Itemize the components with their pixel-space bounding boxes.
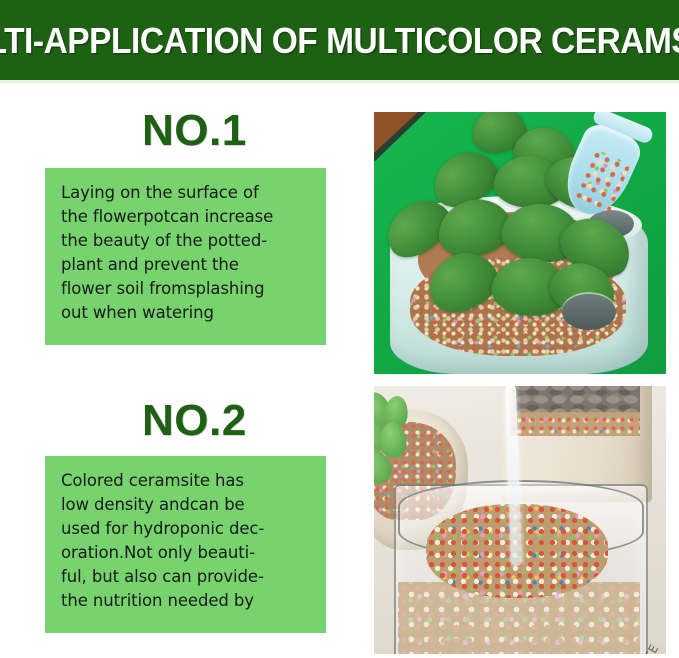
infographic-page: MULTI-APPLICATION OF MULTICOLOR CERAMSIT…	[0, 0, 679, 658]
section-2-text-card: Colored ceramsite has low density andcan…	[45, 456, 326, 633]
decorative-grey-stones	[514, 386, 640, 412]
section-1-text-card: Laying on the surface of the flowerpotca…	[45, 168, 326, 345]
succulent-plant	[374, 392, 432, 492]
section-1-body-text: Laying on the surface of the flowerpotca…	[61, 181, 314, 325]
pot-drain-opening	[562, 294, 616, 330]
section-2-number-label: NO.2	[142, 399, 247, 443]
hydroponic-vase-photo: GALETTE	[374, 386, 666, 654]
section-2-photo: GALETTE	[374, 386, 666, 654]
header-divider	[0, 80, 679, 83]
header-banner: MULTI-APPLICATION OF MULTICOLOR CERAMSIT…	[0, 0, 679, 80]
wood-corner	[374, 112, 418, 153]
page-title: MULTI-APPLICATION OF MULTICOLOR CERAMSIT…	[0, 23, 679, 59]
section-2-body-text: Colored ceramsite has low density andcan…	[61, 469, 314, 613]
potted-plant-photo	[374, 112, 666, 374]
section-1-photo	[374, 112, 666, 374]
text-column: NO.1 Laying on the surface of the flower…	[0, 84, 360, 658]
section-1-number-label: NO.1	[142, 109, 247, 153]
